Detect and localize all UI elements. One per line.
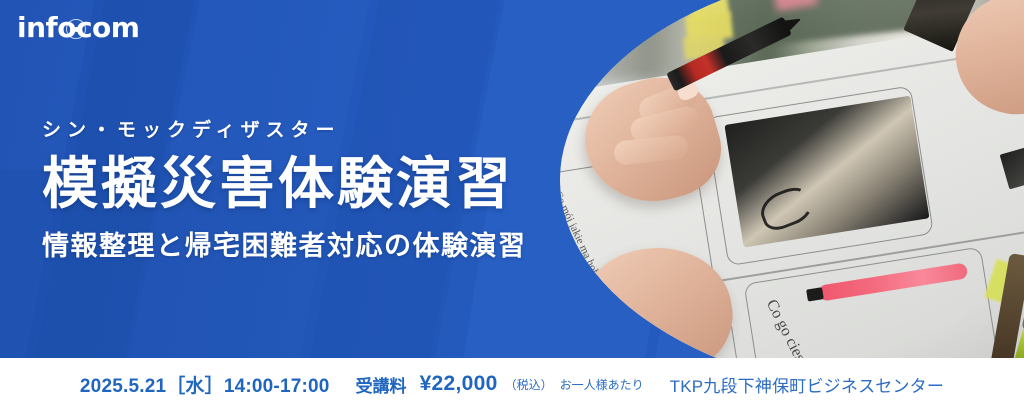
fee-amount: ¥22,000 <box>420 372 498 396</box>
headline-block: シン・モックディザスター 模擬災害体験演習 情報整理と帰宅困難者対応の体験演習 <box>42 120 527 263</box>
lead-text: 情報整理と帰宅困難者対応の体験演習 <box>42 230 527 264</box>
hero-section: Co mój jakie ma hobby? Co go cieszy? <box>0 0 1024 358</box>
kicker-text: シン・モックディザスター <box>42 120 527 143</box>
photo-vignette <box>560 0 1024 358</box>
workshop-photo: Co mój jakie ma hobby? Co go cieszy? <box>560 0 1024 358</box>
fee-label: 受講料 <box>356 372 407 397</box>
photo-content: Co mój jakie ma hobby? Co go cieszy? <box>560 0 1024 358</box>
page-title: 模擬災害体験演習 <box>42 155 527 214</box>
fee-per-person-note: お一人様あたり <box>560 376 644 393</box>
event-datetime: 2025.5.21［水］14:00-17:00 <box>80 371 330 398</box>
event-venue: TKP九段下神保町ビジネスセンター <box>670 372 944 397</box>
logo-dot-icon <box>74 27 79 32</box>
event-info-bar: 2025.5.21［水］14:00-17:00 受講料 ¥22,000 （税込）… <box>0 358 1024 410</box>
infocom-logo[interactable]: infocom <box>17 14 139 42</box>
event-banner: Co mój jakie ma hobby? Co go cieszy? <box>0 0 1024 410</box>
fee-tax-note: （税込） <box>505 376 553 393</box>
